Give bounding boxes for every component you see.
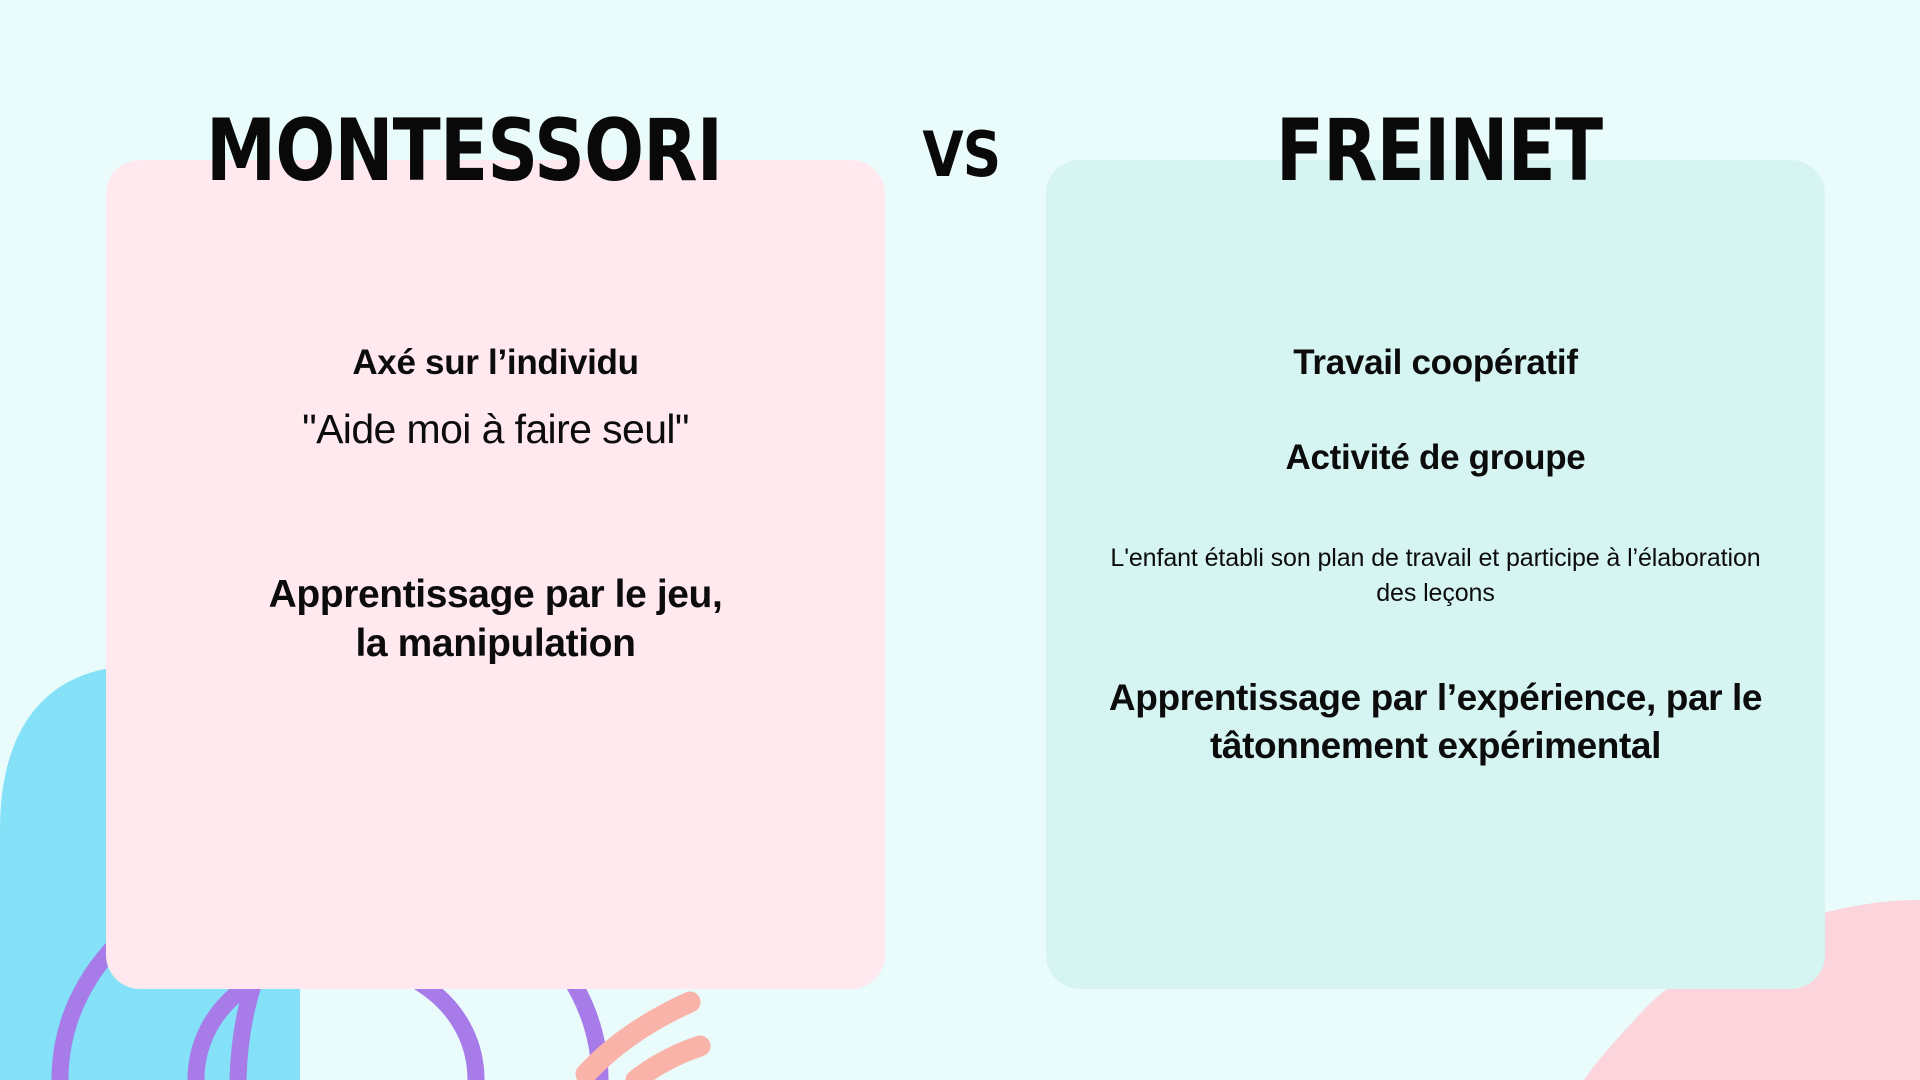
montessori-learning-text: Apprentissage par le jeu,la manipulation xyxy=(154,570,837,668)
freinet-plan-text: L'enfant établi son plan de travail et p… xyxy=(1090,541,1781,612)
versus-separator: VS xyxy=(922,124,1000,186)
card-freinet: Travail coopératif Activité de groupe L'… xyxy=(1046,160,1825,989)
page-title-freinet: FREINET xyxy=(1276,108,1602,194)
freinet-group-text: Activité de groupe xyxy=(1090,437,1781,478)
montessori-quote-text: "Aide moi à faire seul" xyxy=(154,405,837,453)
page-title-montessori: MONTESSORI xyxy=(206,108,722,194)
coral-stroke-upper xyxy=(586,1002,690,1074)
card-montessori: Axé sur l’individu "Aide moi à faire seu… xyxy=(106,160,885,989)
freinet-learning-text: Apprentissage par l’expérience, par le t… xyxy=(1090,674,1781,770)
coral-stroke-lower xyxy=(636,1046,700,1080)
infographic-canvas: MONTESSORI VS FREINET Axé sur l’individu… xyxy=(0,0,1920,1080)
montessori-focus-text: Axé sur l’individu xyxy=(154,342,837,383)
freinet-cooperative-text: Travail coopératif xyxy=(1090,342,1781,383)
